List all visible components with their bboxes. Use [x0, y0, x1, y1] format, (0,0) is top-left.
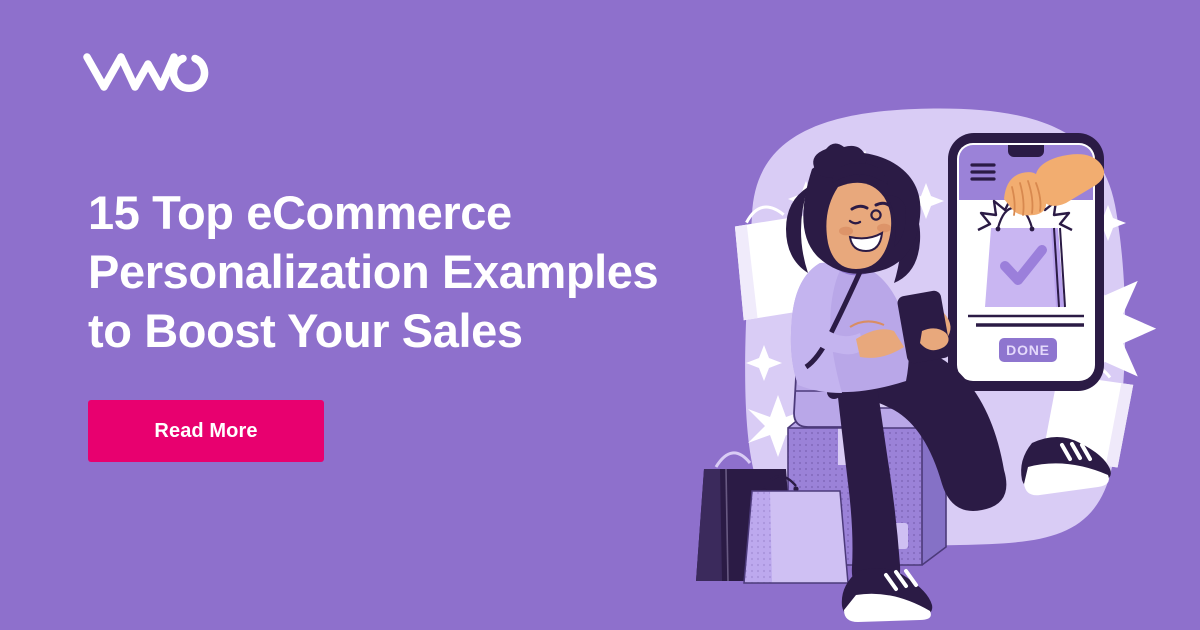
smartphone-mockup: DONE	[948, 133, 1104, 391]
light-shopping-bag	[744, 476, 848, 583]
headline-line-2: Personalization Examples	[88, 242, 698, 301]
done-button: DONE	[999, 338, 1057, 362]
sneaker-front	[842, 568, 932, 622]
hero-illustration: DONE	[660, 95, 1200, 630]
page-title: 15 Top eCommerce Personalization Example…	[88, 183, 698, 360]
social-card: 15 Top eCommerce Personalization Example…	[0, 0, 1200, 630]
done-button-label: DONE	[1006, 342, 1050, 358]
headline-line-3: to Boost Your Sales	[88, 301, 698, 360]
headline-line-1: 15 Top eCommerce	[88, 183, 698, 242]
vwo-logo[interactable]	[82, 46, 212, 94]
read-more-button[interactable]: Read More	[88, 400, 324, 462]
